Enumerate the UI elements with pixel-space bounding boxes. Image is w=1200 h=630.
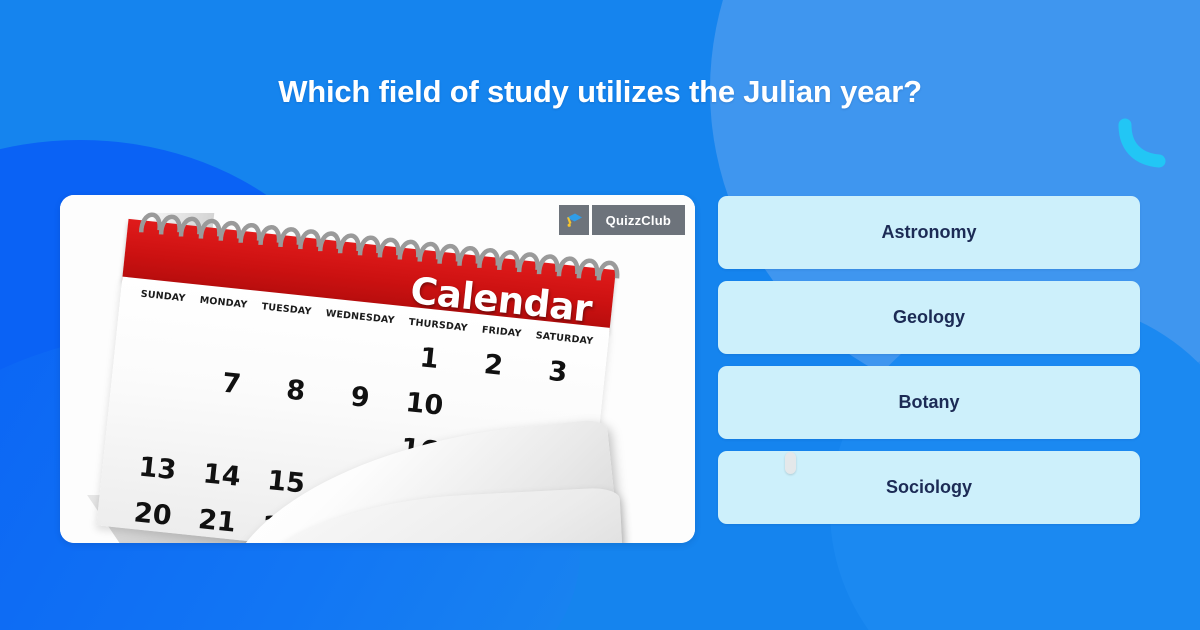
calendar-day-name: FRIDAY bbox=[481, 324, 522, 339]
answer-option-label: Geology bbox=[893, 307, 965, 328]
calendar-photo: Calendar bbox=[60, 195, 695, 543]
calendar-date-cell bbox=[332, 333, 397, 370]
calendar-day-name: MONDAY bbox=[199, 295, 248, 311]
calendar-date-cell bbox=[135, 359, 200, 396]
calendar-date-cell bbox=[456, 392, 521, 429]
calendar-date-cell bbox=[268, 326, 333, 363]
calendar-day-name: WEDNESDAY bbox=[325, 308, 395, 326]
answer-option-astronomy[interactable]: Astronomy bbox=[718, 196, 1140, 269]
calendar-date-cell bbox=[259, 418, 324, 455]
calendar-day-name: TUESDAY bbox=[261, 301, 312, 317]
calendar-body: Calendar bbox=[96, 205, 618, 543]
calendar-date-cell bbox=[140, 313, 205, 350]
scroll-indicator-pill[interactable] bbox=[785, 452, 796, 474]
calendar-day-name: SATURDAY bbox=[535, 330, 594, 347]
calendar-day-name: SUNDAY bbox=[140, 289, 186, 305]
graduation-cap-icon bbox=[559, 205, 589, 235]
calendar-date-cell bbox=[130, 404, 195, 441]
calendar-date-cell: 7 bbox=[199, 365, 264, 402]
answer-option-label: Sociology bbox=[886, 477, 972, 498]
answer-option-label: Astronomy bbox=[881, 222, 976, 243]
calendar-date-cell: 20 bbox=[120, 496, 185, 533]
calendar-date-cell: 1 bbox=[397, 340, 462, 377]
calendar-date-cell bbox=[323, 425, 388, 462]
page-title: Which field of study utilizes the Julian… bbox=[0, 74, 1200, 110]
answer-options-list: Astronomy Geology Botany Sociology bbox=[718, 196, 1140, 524]
calendar-date-cell: 13 bbox=[125, 450, 190, 487]
calendar-day-name: THURSDAY bbox=[408, 317, 468, 334]
calendar-date-cell bbox=[204, 320, 269, 357]
calendar-date-cell bbox=[194, 411, 259, 448]
quizzclub-brand-label: QuizzClub bbox=[592, 205, 685, 235]
calendar-date-cell: 10 bbox=[392, 386, 457, 423]
quizzclub-watermark: QuizzClub bbox=[559, 205, 685, 235]
calendar-date-cell: 9 bbox=[328, 379, 393, 416]
answer-option-label: Botany bbox=[898, 392, 959, 413]
calendar-date-cell: 8 bbox=[263, 372, 328, 409]
calendar-date-cell: 2 bbox=[461, 347, 526, 384]
cyan-hook-icon bbox=[1118, 118, 1170, 170]
answer-option-botany[interactable]: Botany bbox=[718, 366, 1140, 439]
calendar-date-cell: 14 bbox=[189, 457, 254, 494]
calendar-date-cell: 21 bbox=[185, 503, 250, 540]
answer-option-sociology[interactable]: Sociology bbox=[718, 451, 1140, 524]
calendar-date-cell: 3 bbox=[525, 353, 590, 390]
question-image-card: Calendar bbox=[60, 195, 695, 543]
answer-option-geology[interactable]: Geology bbox=[718, 281, 1140, 354]
